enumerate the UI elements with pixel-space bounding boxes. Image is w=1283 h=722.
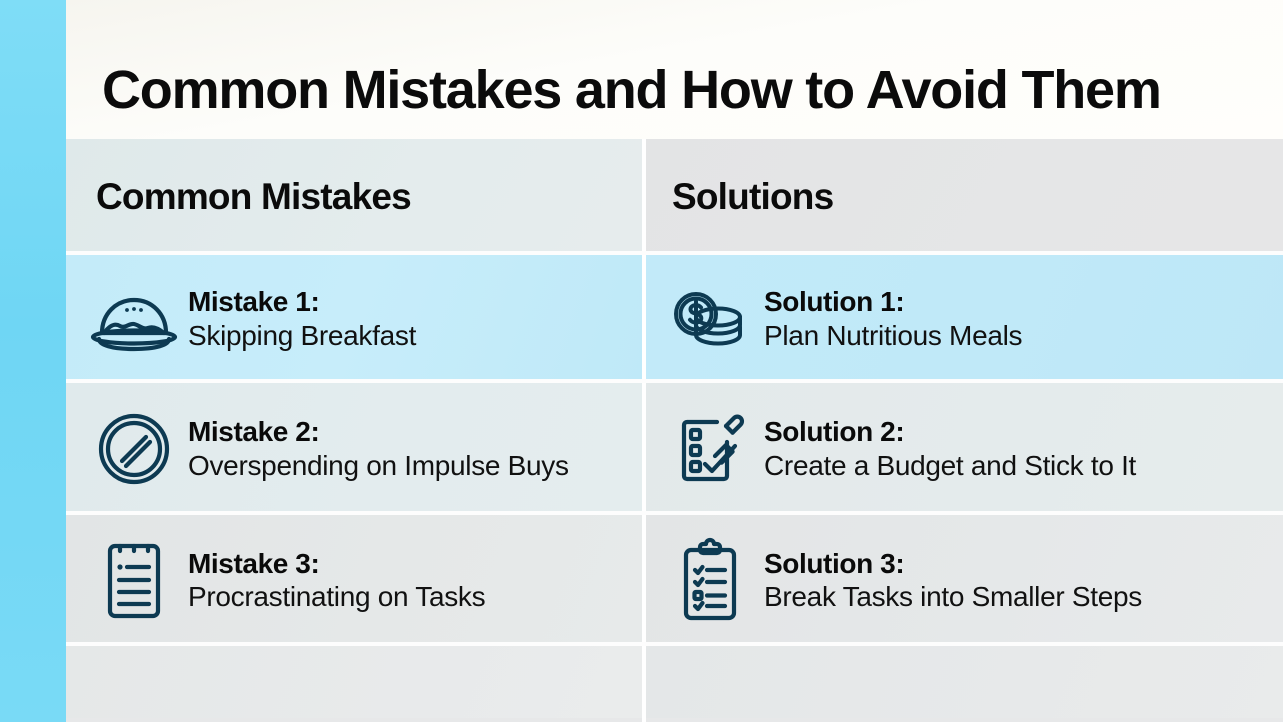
mistake-label-3: Mistake 3: — [188, 548, 485, 580]
solution-label-1: Solution 1: — [764, 286, 1022, 318]
notes-document-icon — [88, 538, 180, 624]
no-entry-slash-icon — [88, 409, 180, 489]
table-row[interactable]: Mistake 1: Skipping Breakfast — [66, 255, 1283, 383]
column-header-solutions: Solutions — [642, 176, 833, 218]
table-row-empty — [66, 646, 1283, 718]
mistake-label-2: Mistake 2: — [188, 416, 569, 448]
title-band: Common Mistakes and How to Avoid Them — [66, 0, 1283, 139]
row-divider-2 — [66, 511, 1283, 515]
mistake-text-2: Mistake 2: Overspending on Impulse Buys — [180, 416, 583, 482]
solution-text-3: Solution 3: Break Tasks into Smaller Ste… — [756, 548, 1156, 614]
table-row[interactable]: Mistake 2: Overspending on Impulse Buys — [66, 383, 1283, 515]
slide-canvas: Common Mistakes and How to Avoid Them Co… — [0, 0, 1283, 722]
empty-cell-left — [66, 646, 642, 718]
column-header-mistakes: Common Mistakes — [66, 176, 411, 218]
page-title: Common Mistakes and How to Avoid Them — [66, 63, 1161, 139]
covered-dish-icon — [88, 283, 180, 355]
mistake-body-1: Skipping Breakfast — [188, 319, 416, 352]
mistake-cell-1[interactable]: Mistake 1: Skipping Breakfast — [66, 255, 642, 383]
row-divider-1 — [66, 379, 1283, 383]
header-cell-solutions: Solutions — [642, 139, 1283, 255]
solution-label-3: Solution 3: — [764, 548, 1142, 580]
solution-text-2: Solution 2: Create a Budget and Stick to… — [756, 416, 1150, 482]
left-accent-bar — [0, 0, 66, 722]
mistake-cell-2[interactable]: Mistake 2: Overspending on Impulse Buys — [66, 383, 642, 515]
mistake-body-3: Procrastinating on Tasks — [188, 580, 485, 613]
mistake-body-2: Overspending on Impulse Buys — [188, 449, 569, 482]
solution-cell-3[interactable]: Solution 3: Break Tasks into Smaller Ste… — [642, 515, 1283, 646]
mistake-cell-3[interactable]: Mistake 3: Procrastinating on Tasks — [66, 515, 642, 646]
solution-text-1: Solution 1: Plan Nutritious Meals — [756, 286, 1036, 352]
empty-cell-right — [642, 646, 1283, 718]
solution-cell-2[interactable]: Solution 2: Create a Budget and Stick to… — [642, 383, 1283, 515]
mistake-label-1: Mistake 1: — [188, 286, 416, 318]
column-divider — [642, 139, 646, 722]
checklist-pencil-icon — [664, 408, 756, 490]
solution-cell-1[interactable]: Solution 1: Plan Nutritious Meals — [642, 255, 1283, 383]
coins-dollar-icon — [664, 283, 756, 355]
comparison-table: Common Mistakes Solutions — [66, 139, 1283, 722]
header-cell-mistakes: Common Mistakes — [66, 139, 642, 255]
solution-body-1: Plan Nutritious Meals — [764, 319, 1022, 352]
clipboard-check-icon — [664, 537, 756, 625]
row-divider-3 — [66, 642, 1283, 646]
solution-body-3: Break Tasks into Smaller Steps — [764, 580, 1142, 613]
solution-label-2: Solution 2: — [764, 416, 1136, 448]
mistake-text-1: Mistake 1: Skipping Breakfast — [180, 286, 430, 352]
table-header-row: Common Mistakes Solutions — [66, 139, 1283, 255]
solution-body-2: Create a Budget and Stick to It — [764, 449, 1136, 482]
row-divider-header — [66, 251, 1283, 255]
table-row[interactable]: Mistake 3: Procrastinating on Tasks — [66, 515, 1283, 646]
mistake-text-3: Mistake 3: Procrastinating on Tasks — [180, 548, 499, 614]
